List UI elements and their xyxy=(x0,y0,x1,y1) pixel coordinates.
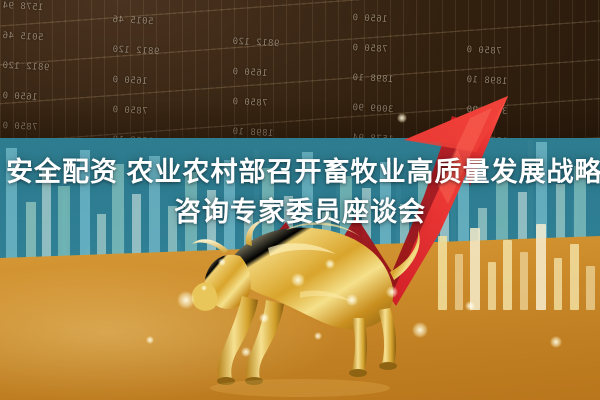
bokeh-dot xyxy=(146,336,154,344)
bokeh-dot xyxy=(346,294,358,306)
bokeh-dot xyxy=(550,336,562,348)
bokeh-dot xyxy=(386,286,398,298)
bokeh-dot xyxy=(177,291,195,309)
bokeh-dot xyxy=(201,285,207,291)
bokeh-dot xyxy=(259,313,269,323)
bokeh-dot xyxy=(241,347,251,357)
bokeh-dot xyxy=(465,301,475,311)
bokeh-dot xyxy=(218,258,226,266)
news-banner-image: 1578 945015 469812 1201650 07850 05015 4… xyxy=(0,0,600,400)
bokeh-dot xyxy=(291,273,305,287)
bokeh-dot xyxy=(314,332,322,340)
bokeh-light-dots xyxy=(0,0,600,400)
bokeh-dot xyxy=(397,113,407,123)
bokeh-dot xyxy=(325,259,335,269)
bokeh-dot xyxy=(412,322,428,338)
